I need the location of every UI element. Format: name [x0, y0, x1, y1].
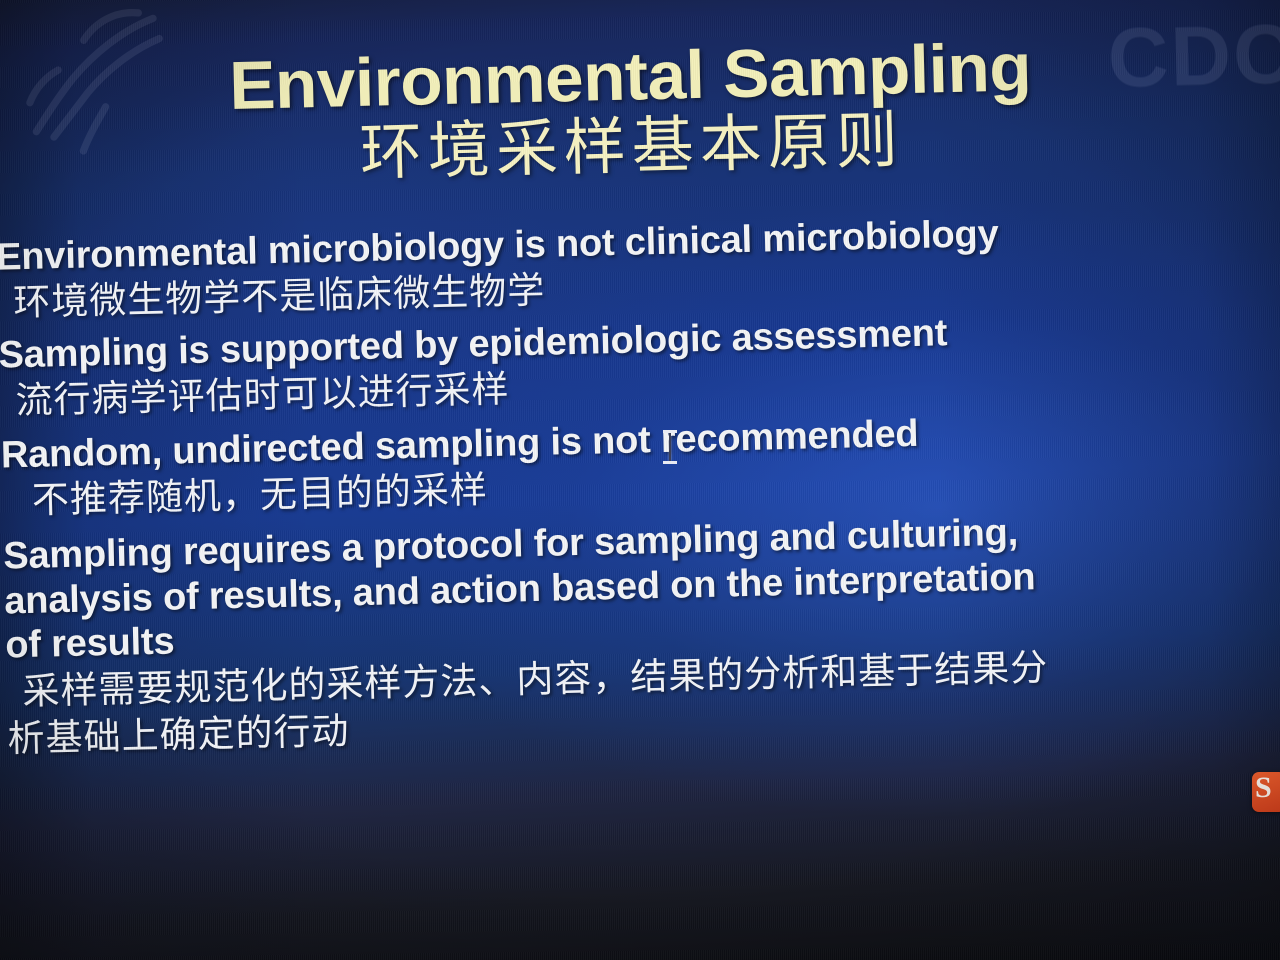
slide-body: Environmental microbiology is not clinic…: [0, 205, 1280, 764]
ibeam-bottom-cap: [663, 461, 677, 464]
bullet-item-3: Random, undirected sampling is not recom…: [0, 402, 1280, 526]
screenshot-root: CDC Environmental Sampling 环境采样基本原则 Envi…: [0, 0, 1280, 960]
slide-title-block: Environmental Sampling 环境采样基本原则: [0, 27, 1280, 196]
app-icon-glyph: S: [1255, 773, 1272, 803]
orange-app-icon[interactable]: S: [1252, 772, 1280, 812]
text-ibeam-cursor: [663, 430, 677, 464]
ibeam-stem: [669, 433, 671, 461]
bullet-item-4: Sampling requires a protocol for samplin…: [0, 504, 1280, 764]
projected-slide: CDC Environmental Sampling 环境采样基本原则 Envi…: [0, 0, 1280, 960]
